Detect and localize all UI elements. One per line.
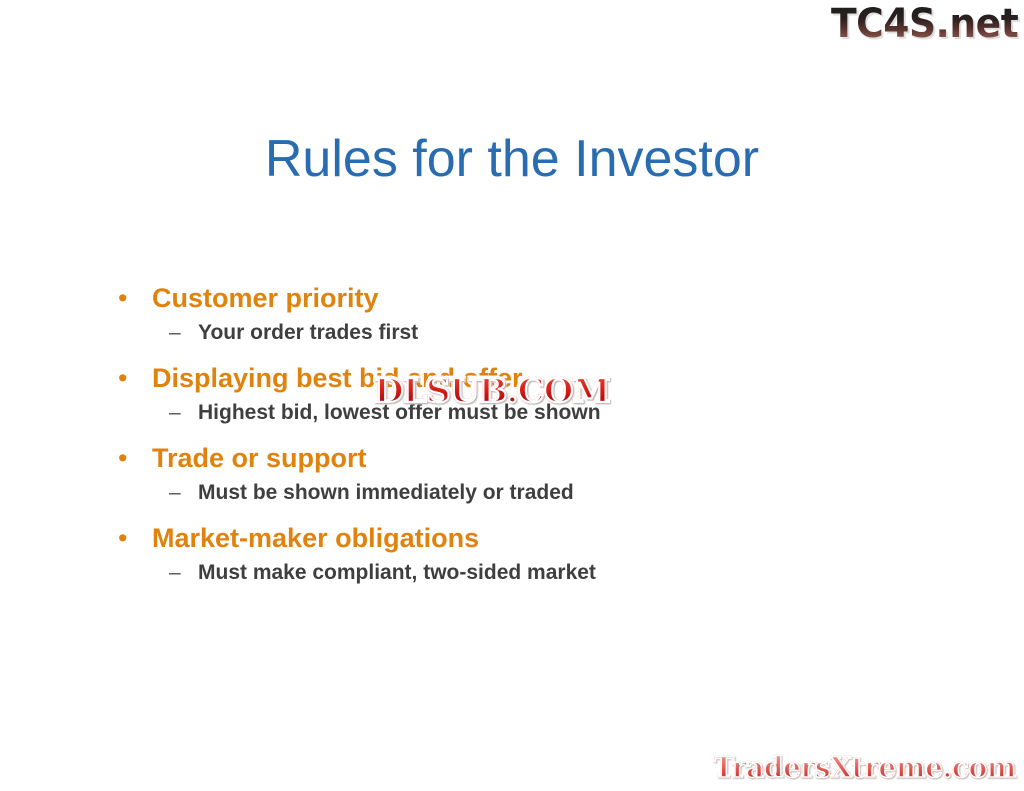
sub-bullet-dash-icon: – bbox=[169, 558, 198, 587]
bullet-dot-icon: • bbox=[118, 521, 152, 555]
sub-bullet-text: Must be shown immediately or traded bbox=[198, 478, 574, 507]
bullet-text: Customer priority bbox=[152, 281, 379, 315]
bullet-group: • Market-maker obligations – Must make c… bbox=[118, 521, 908, 587]
sub-bullet-item: – Must be shown immediately or traded bbox=[118, 478, 908, 507]
slide-title: Rules for the Investor bbox=[0, 128, 1024, 190]
dlsub-watermark: DLSUB.COM bbox=[374, 372, 609, 410]
presentation-slide: TC4S.net TC4S.net Rules for the Investor… bbox=[0, 0, 1024, 791]
bullet-item: • Market-maker obligations bbox=[118, 521, 908, 555]
tc4s-logo: TC4S.net bbox=[831, 2, 1018, 46]
bullet-list: • Customer priority – Your order trades … bbox=[118, 281, 908, 587]
sub-bullet-text: Your order trades first bbox=[198, 318, 418, 347]
sub-bullet-dash-icon: – bbox=[169, 398, 198, 427]
bullet-text: Market-maker obligations bbox=[152, 521, 479, 555]
bullet-dot-icon: • bbox=[118, 361, 152, 395]
bullet-group: • Customer priority – Your order trades … bbox=[118, 281, 908, 347]
bullet-item: • Customer priority bbox=[118, 281, 908, 315]
tradersxtreme-watermark: TradersXtreme.com bbox=[713, 751, 1016, 785]
sub-bullet-item: – Must make compliant, two-sided market bbox=[118, 558, 908, 587]
bullet-group: • Trade or support – Must be shown immed… bbox=[118, 441, 908, 507]
bullet-text: Trade or support bbox=[152, 441, 367, 475]
bullet-dot-icon: • bbox=[118, 281, 152, 315]
sub-bullet-dash-icon: – bbox=[169, 318, 198, 347]
bullet-dot-icon: • bbox=[118, 441, 152, 475]
sub-bullet-item: – Your order trades first bbox=[118, 318, 908, 347]
sub-bullet-dash-icon: – bbox=[169, 478, 198, 507]
bullet-item: • Trade or support bbox=[118, 441, 908, 475]
sub-bullet-text: Must make compliant, two-sided market bbox=[198, 558, 596, 587]
